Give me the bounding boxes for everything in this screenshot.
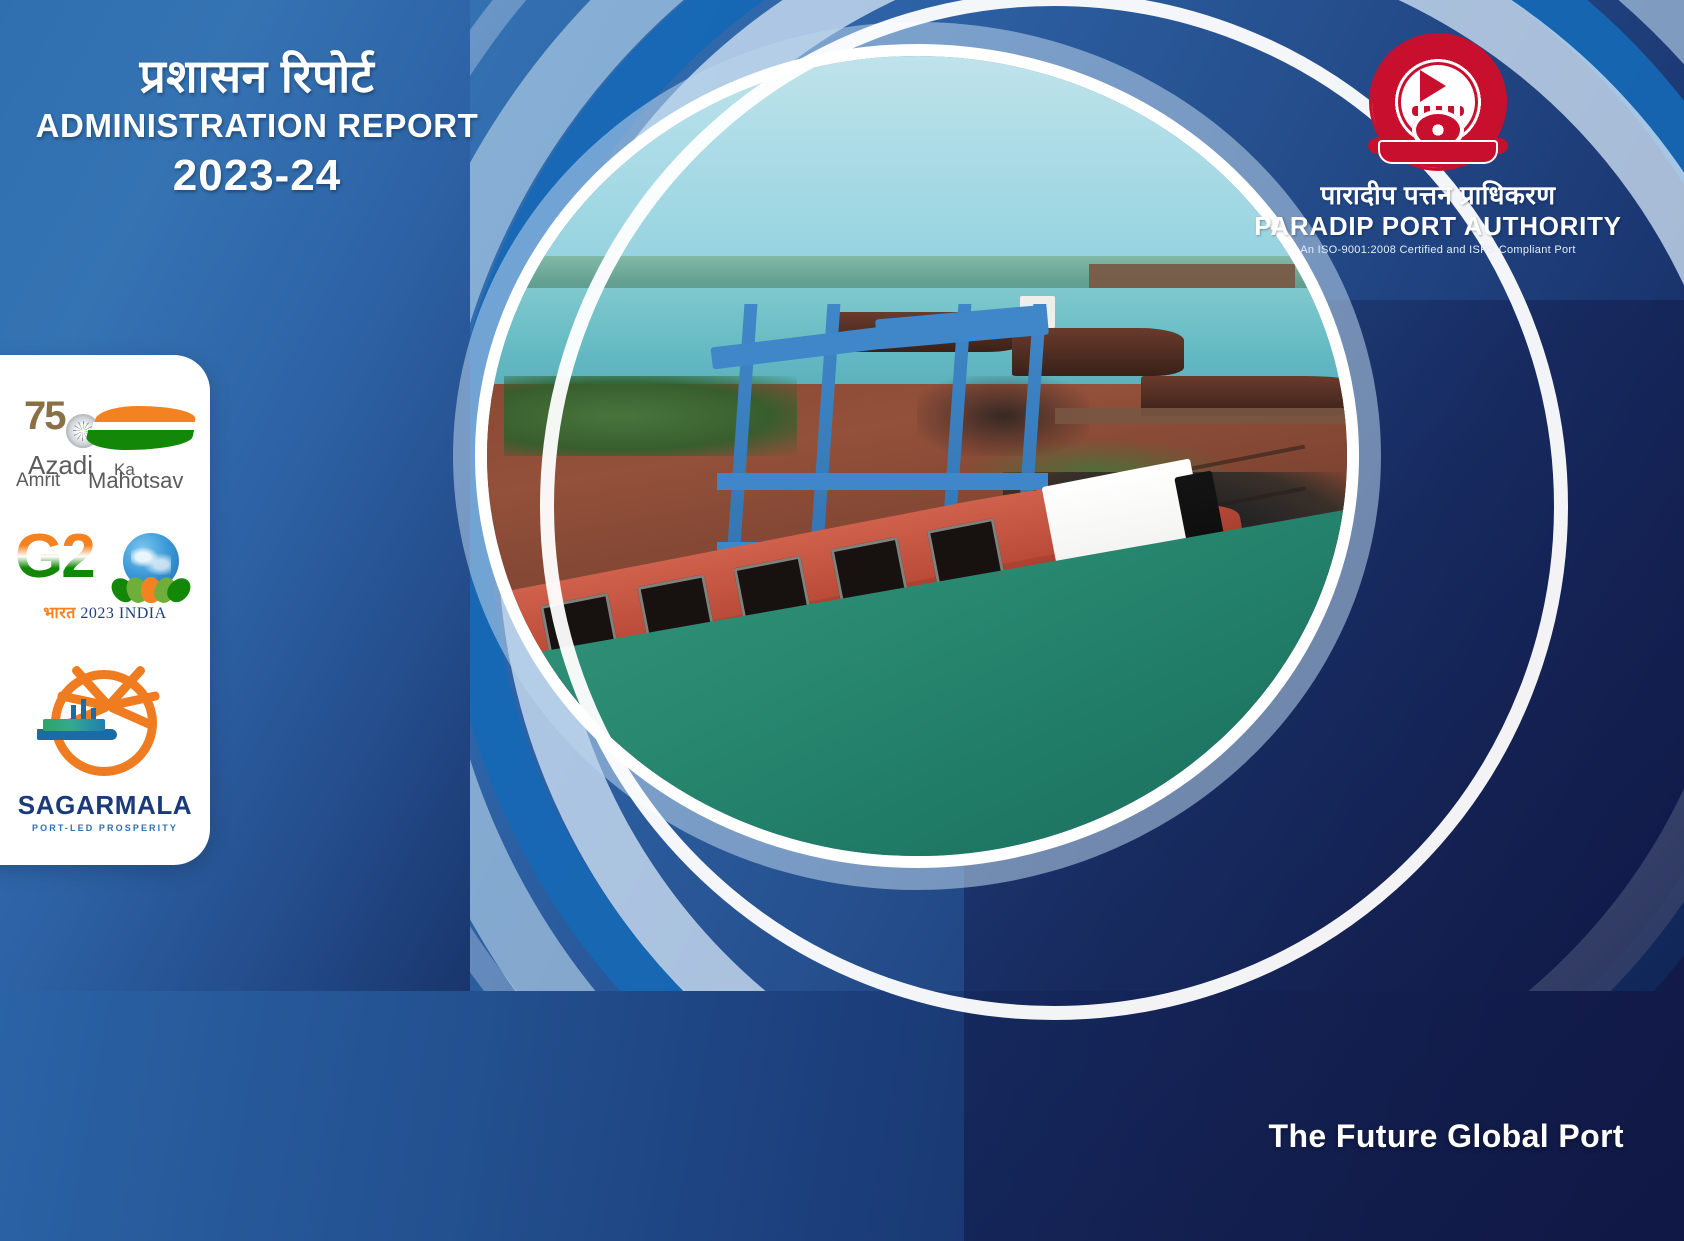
akam-label-mahotsav: Mahotsav: [88, 468, 183, 494]
sagarmala-ship-icon: [37, 712, 117, 742]
sagarmala-ship-deck: [43, 719, 105, 731]
g20-subtitle: भारत 2023 INDIA: [5, 601, 205, 623]
org-certification: An ISO-9001:2008 Certified and ISPS Comp…: [1238, 244, 1638, 256]
title-english: ADMINISTRATION REPORT: [22, 107, 492, 145]
sagarmala-ship-mast: [81, 699, 86, 719]
azadi-amrit-mahotsav-icon: 75 Azadi Ka Amrit Mahotsav: [10, 388, 200, 488]
org-name-english: PARADIP PORT AUTHORITY: [1238, 212, 1638, 241]
title-year: 2023-24: [22, 151, 492, 201]
sagarmala-tagline: PORT-LED PROSPERITY: [32, 823, 178, 833]
g20-mark: G2: [15, 521, 94, 592]
sagarmala-icon: [5, 656, 205, 788]
g20-subtitle-country: INDIA: [119, 605, 167, 622]
logo-sagarmala: SAGARMALA PORT-LED PROSPERITY: [5, 656, 205, 833]
flag-green-stripe: [84, 430, 194, 450]
administration-report-cover: प्रशासन रिपोर्ट ADMINISTRATION REPORT 20…: [0, 0, 1684, 1241]
akam-label-amrit: Amrit: [16, 470, 60, 492]
logo-g20-india: G2 भारत 2023 INDIA: [5, 517, 205, 627]
g20-icon: G2 भारत 2023 INDIA: [5, 517, 205, 627]
crest-sail-icon: [1420, 70, 1446, 102]
org-name-hindi: पारादीप पत्तन प्राधिकरण: [1238, 176, 1638, 212]
title-hindi: प्रशासन रिपोर्ट: [22, 50, 492, 103]
g20-lotus-icon: [113, 569, 189, 603]
g20-subtitle-year: 2023: [80, 605, 114, 622]
organization-identity: पारादीप पत्तन प्राधिकरण PARADIP PORT AUT…: [1238, 36, 1638, 256]
sagarmala-wordmark: SAGARMALA: [18, 790, 192, 821]
g20-subtitle-hindi: भारत: [43, 605, 76, 622]
sagarmala-ship-mast: [91, 708, 96, 719]
paradip-port-authority-crest-icon: [1372, 36, 1504, 168]
logo-panel: 75 Azadi Ka Amrit Mahotsav G2: [0, 355, 210, 865]
crest-bottom-ribbon: [1378, 140, 1498, 164]
akam-75-mark: 75: [24, 394, 65, 439]
logo-azadi-ka-amrit-mahotsav: 75 Azadi Ka Amrit Mahotsav: [5, 388, 205, 488]
cover-tagline: The Future Global Port: [1269, 1118, 1624, 1155]
sagarmala-ship-mast: [71, 705, 76, 719]
page-title: प्रशासन रिपोर्ट ADMINISTRATION REPORT 20…: [22, 50, 492, 201]
